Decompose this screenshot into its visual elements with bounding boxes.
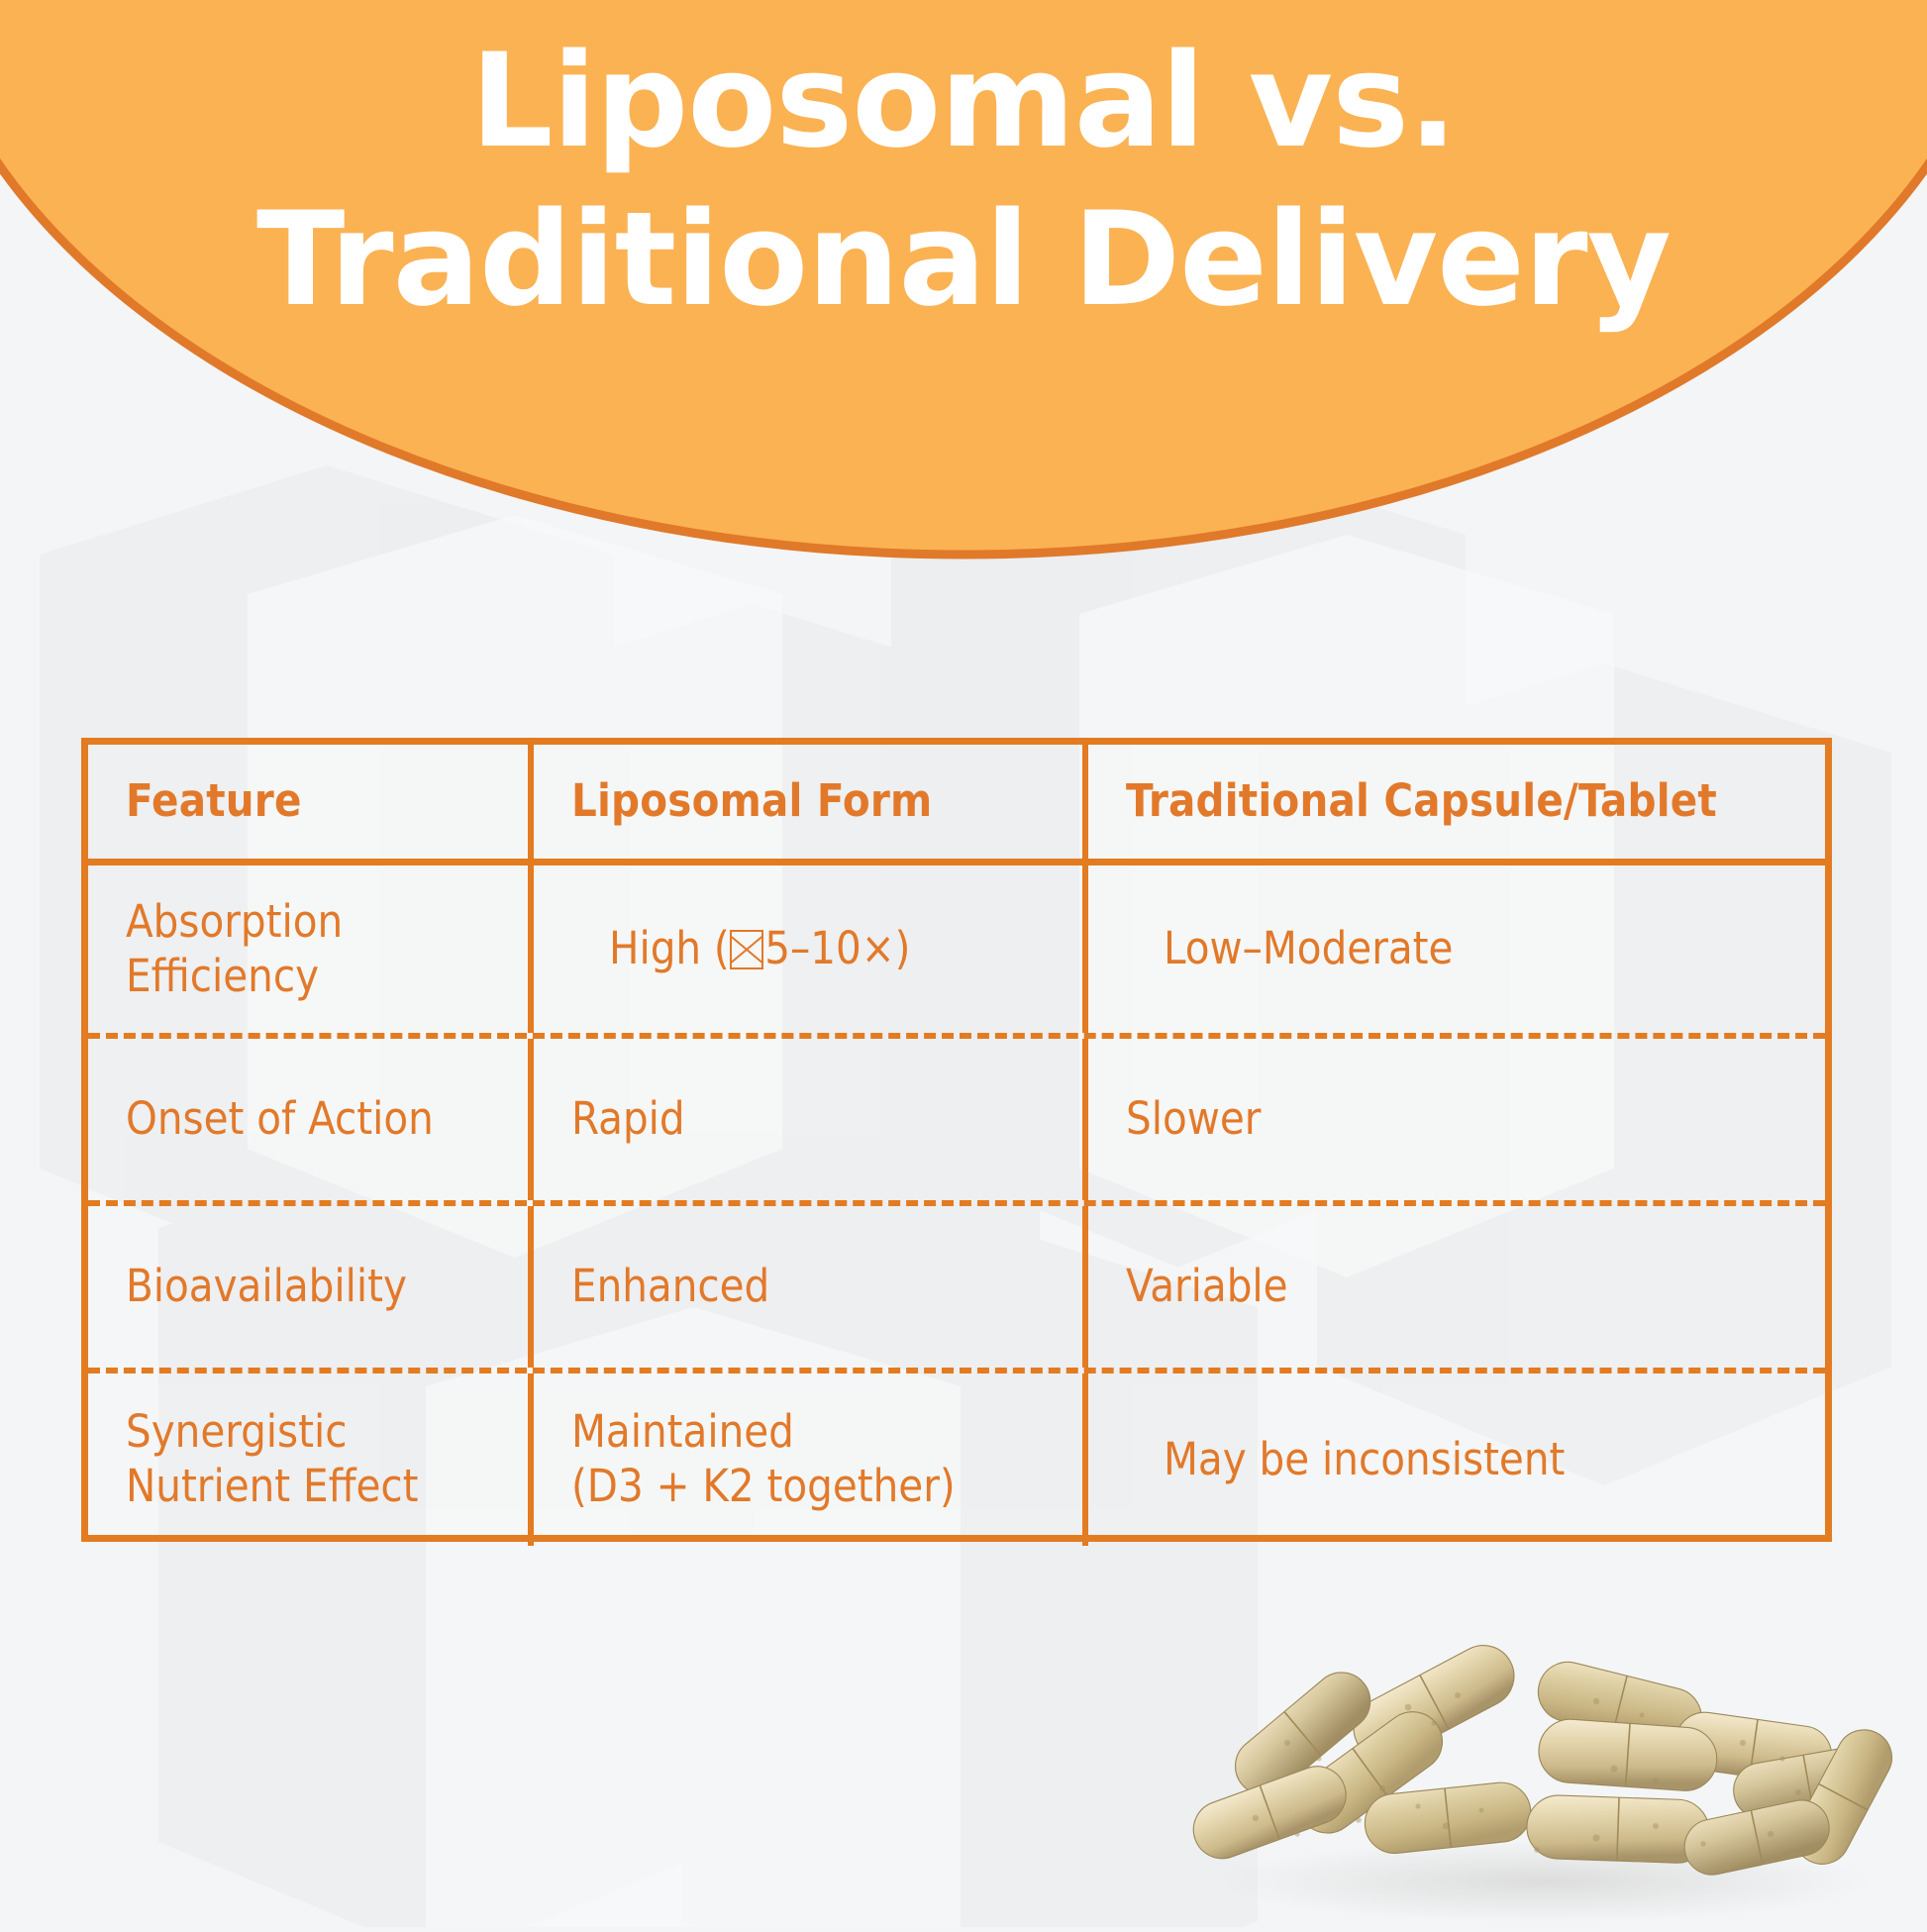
cell-feature: Synergistic Nutrient Effect: [88, 1373, 534, 1546]
table-header-row: Feature Liposomal Form Traditional Capsu…: [88, 745, 1825, 865]
cell-liposomal: Maintained (D3 + K2 together): [534, 1373, 1088, 1546]
cell-feature: Onset of Action: [88, 1039, 534, 1200]
page-title-line-1: Liposomal vs.: [0, 22, 1927, 180]
column-header-traditional: Traditional Capsule/Tablet: [1088, 745, 1825, 859]
cell-traditional: May be inconsistent: [1088, 1373, 1825, 1546]
table-row: Bioavailability Enhanced Variable: [88, 1200, 1825, 1368]
table-row: Onset of Action Rapid Slower: [88, 1033, 1825, 1200]
capsules-photo: [1149, 1584, 1927, 1927]
cell-feature: Bioavailability: [88, 1206, 534, 1368]
cell-liposomal: Rapid: [534, 1039, 1088, 1200]
cell-feature: Absorption Efficiency: [88, 865, 534, 1033]
comparison-table: Feature Liposomal Form Traditional Capsu…: [81, 738, 1832, 1542]
cell-liposomal: High (5–10×): [534, 865, 1088, 1033]
cell-traditional: Slower: [1088, 1039, 1825, 1200]
page-title: Liposomal vs. Traditional Delivery: [0, 22, 1927, 339]
column-header-liposomal: Liposomal Form: [534, 745, 1088, 859]
missing-glyph-box-icon: [730, 930, 764, 969]
table-row: Absorption Efficiency High (5–10×) Low–M…: [88, 865, 1825, 1033]
page-title-line-2: Traditional Delivery: [0, 180, 1927, 339]
cell-traditional: Low–Moderate: [1088, 865, 1825, 1033]
cell-traditional: Variable: [1088, 1206, 1825, 1368]
table-row: Synergistic Nutrient Effect Maintained (…: [88, 1368, 1825, 1546]
liposomal-prefix: High (: [609, 922, 730, 976]
liposomal-suffix: 5–10×): [764, 922, 910, 976]
cell-liposomal: Enhanced: [534, 1206, 1088, 1368]
column-header-feature: Feature: [88, 745, 534, 859]
